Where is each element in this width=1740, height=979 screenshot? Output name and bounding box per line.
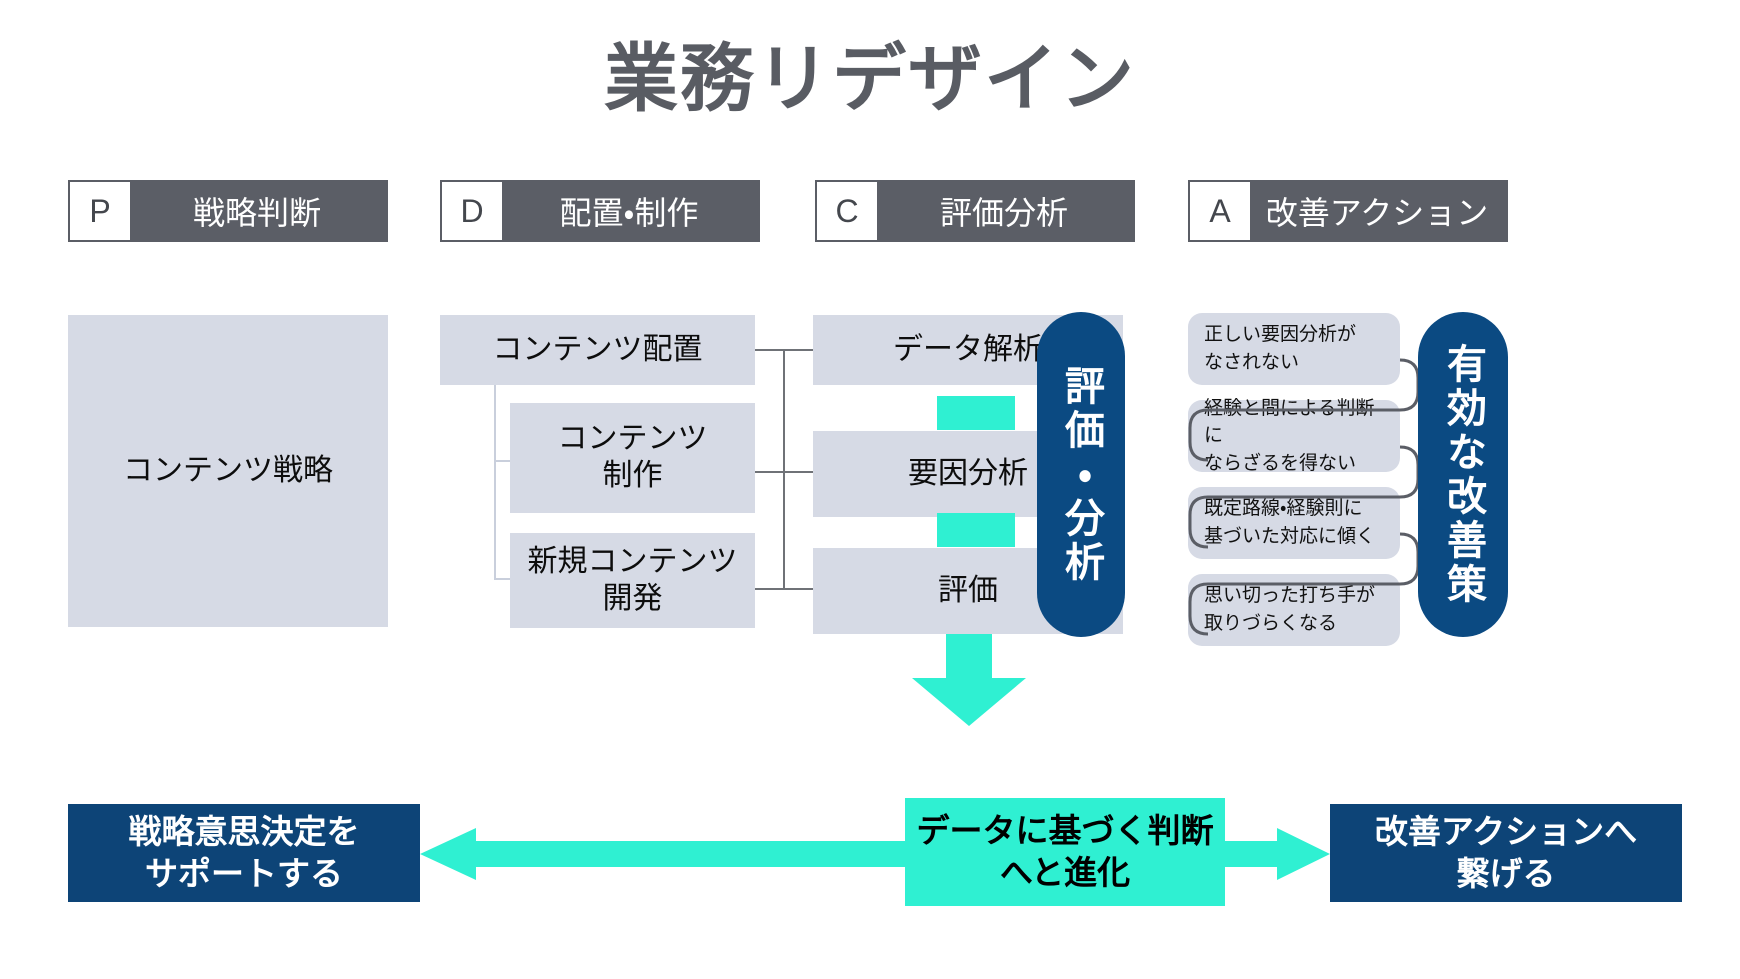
phase-header-c: C 評価分析 — [815, 180, 1135, 242]
teal-right-arrow — [1225, 828, 1330, 880]
do-box-content-placement: コンテンツ配置 — [440, 315, 755, 385]
connector-d3-stub — [755, 588, 785, 590]
teal-down-arrow — [904, 634, 1034, 726]
phase-label-d: 配置・制作 — [504, 180, 760, 242]
check-label-2: 要因分析 — [908, 456, 1028, 493]
bottom-right-line2: 繋げる — [1457, 853, 1556, 895]
phase-header-p: P 戦略判断 — [68, 180, 388, 242]
do-box-label-2a: コンテンツ — [558, 421, 708, 458]
act-pill-effective-improvement: 有効な改善策 — [1418, 312, 1508, 637]
phase-label-p: 戦略判断 — [132, 180, 388, 242]
do-tree-vertical — [494, 385, 496, 580]
slide-canvas: 業務リデザイン P 戦略判断 D 配置・制作 C 評価分析 A 改善アクション … — [0, 0, 1740, 979]
bottom-box-left-strategy-support: 戦略意思決定を サポートする — [68, 804, 420, 902]
connector-to-c-data — [785, 349, 813, 351]
do-box-new-content-dev: 新規コンテンツ 開発 — [510, 533, 755, 628]
connector-d2-stub — [755, 471, 785, 473]
bottom-center-line2: へと進化 — [1000, 852, 1130, 894]
connector-d1-stub — [755, 349, 785, 351]
bottom-right-line1: 改善アクションへ — [1375, 811, 1637, 853]
phase-letter-a: A — [1188, 180, 1252, 242]
do-box-label-3a: 新規コンテンツ — [528, 544, 738, 581]
phase-letter-d: D — [440, 180, 504, 242]
phase-header-a: A 改善アクション — [1188, 180, 1508, 242]
connector-spine — [783, 349, 785, 590]
connector-to-c-eval — [785, 588, 813, 590]
do-box-content-production: コンテンツ 制作 — [510, 403, 755, 513]
do-box-label-3b: 開発 — [603, 581, 663, 618]
bottom-left-line2: サポートする — [145, 853, 343, 895]
do-box-label-2b: 制作 — [603, 458, 663, 495]
bottom-box-right-improvement-action: 改善アクションへ 繋げる — [1330, 804, 1682, 902]
act-zigzag-connectors — [1160, 300, 1420, 660]
check-pill-evaluation-analysis: 評価・分析 — [1037, 312, 1125, 637]
phase-letter-p: P — [68, 180, 132, 242]
page-title: 業務リデザイン — [0, 38, 1740, 119]
phase-header-d: D 配置・制作 — [440, 180, 760, 242]
teal-left-arrow — [420, 828, 918, 880]
phase-label-c: 評価分析 — [879, 180, 1135, 242]
connector-to-c-factor — [785, 471, 813, 473]
bottom-left-line1: 戦略意思決定を — [129, 811, 360, 853]
check-label-1: データ解析 — [893, 332, 1043, 369]
check-link-bar-1 — [937, 396, 1015, 430]
phase-label-a: 改善アクション — [1252, 180, 1508, 242]
check-pill-label: 評価・分析 — [1058, 365, 1104, 585]
check-link-bar-2 — [937, 513, 1015, 547]
bottom-banner-data-driven: データに基づく判断 へと進化 — [905, 798, 1225, 906]
act-pill-label: 有効な改善策 — [1440, 343, 1486, 607]
plan-content-strategy-box: コンテンツ戦略 — [68, 315, 388, 627]
do-box-label-1: コンテンツ配置 — [493, 332, 703, 369]
check-label-3: 評価 — [938, 573, 998, 610]
phase-letter-c: C — [815, 180, 879, 242]
plan-box-label: コンテンツ戦略 — [123, 453, 333, 490]
bottom-center-line1: データに基づく判断 — [917, 810, 1214, 852]
